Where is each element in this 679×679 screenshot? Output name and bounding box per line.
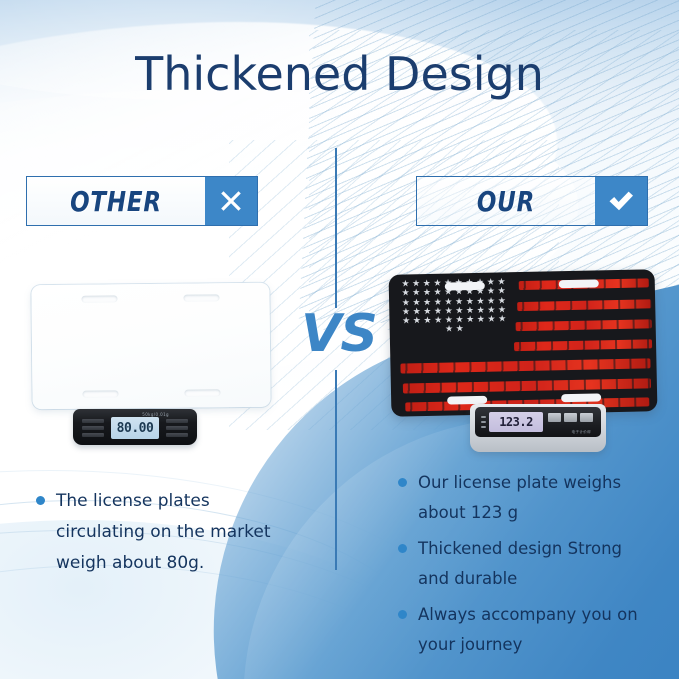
plate-mount-slot [184, 389, 220, 396]
scale-keypad [548, 413, 593, 422]
other-label-box: OTHER [26, 176, 258, 226]
bullet-dot-icon [398, 610, 407, 619]
our-bullet-list: Our license plate weighs about 123 g Thi… [398, 468, 650, 666]
scale-button-pad-right [166, 419, 188, 437]
plate-mount-slot [82, 390, 118, 397]
page-title: Thickened Design [0, 46, 679, 102]
our-label-box: OUR [416, 176, 648, 226]
left-digital-scale: 50kg/0.01g 80.00 [73, 409, 197, 445]
flag-stripe [514, 339, 652, 351]
list-item: Thickened design Strong and durable [398, 534, 650, 594]
right-digital-scale: 123.2 电子计价秤 [470, 404, 606, 452]
center-divider-bottom [335, 370, 337, 570]
scale-lcd-display: 123.2 [489, 412, 543, 432]
list-item: The license plates circulating on the ma… [36, 486, 286, 579]
american-flag-license-plate: ★★★★★★★★★★★★★★★★★★★★★★★★★★★★★★★★★★★★★★★★… [389, 269, 658, 417]
plate-mount-slot [561, 393, 601, 402]
plate-mount-slot [445, 282, 485, 291]
list-item: Our license plate weighs about 123 g [398, 468, 650, 528]
flag-stripe [403, 378, 651, 393]
bullet-dot-icon [36, 496, 45, 505]
scale-subtext: 电子计价秤 [572, 430, 591, 435]
bullet-dot-icon [398, 478, 407, 487]
scale-control-panel: 123.2 电子计价秤 [475, 407, 601, 437]
close-icon [205, 177, 257, 225]
vs-label: VS [296, 305, 382, 363]
scale-weight-value: 80.00 [117, 421, 154, 436]
flag-stripe [516, 319, 652, 331]
center-divider-top [335, 148, 337, 308]
other-bullet-list: The license plates circulating on the ma… [36, 486, 286, 585]
our-label-text: OUR [433, 177, 579, 225]
scale-indicator-marks [481, 416, 486, 428]
scale-lcd-display: 80.00 [111, 417, 159, 439]
infographic-canvas: Thickened Design VS OTHER OUR 50kg/0.01g [0, 0, 679, 679]
flag-stripe [517, 299, 651, 311]
scale-button-pad-left [82, 419, 104, 437]
other-label-text: OTHER [43, 177, 189, 225]
list-item: Always accompany you on your journey [398, 600, 650, 660]
flag-stripe [400, 358, 650, 373]
bullet-text: Thickened design Strong and durable [418, 534, 650, 594]
blank-license-plate [31, 283, 270, 409]
plate-mount-slot [81, 295, 117, 302]
bullet-text: The license plates circulating on the ma… [56, 486, 286, 579]
check-icon [595, 177, 647, 225]
scale-weight-value: 123.2 [499, 415, 533, 429]
plate-mount-slot [559, 279, 599, 288]
bullet-text: Our license plate weighs about 123 g [418, 468, 650, 528]
plate-mount-slot [183, 294, 219, 301]
bullet-text: Always accompany you on your journey [418, 600, 650, 660]
bullet-dot-icon [398, 544, 407, 553]
